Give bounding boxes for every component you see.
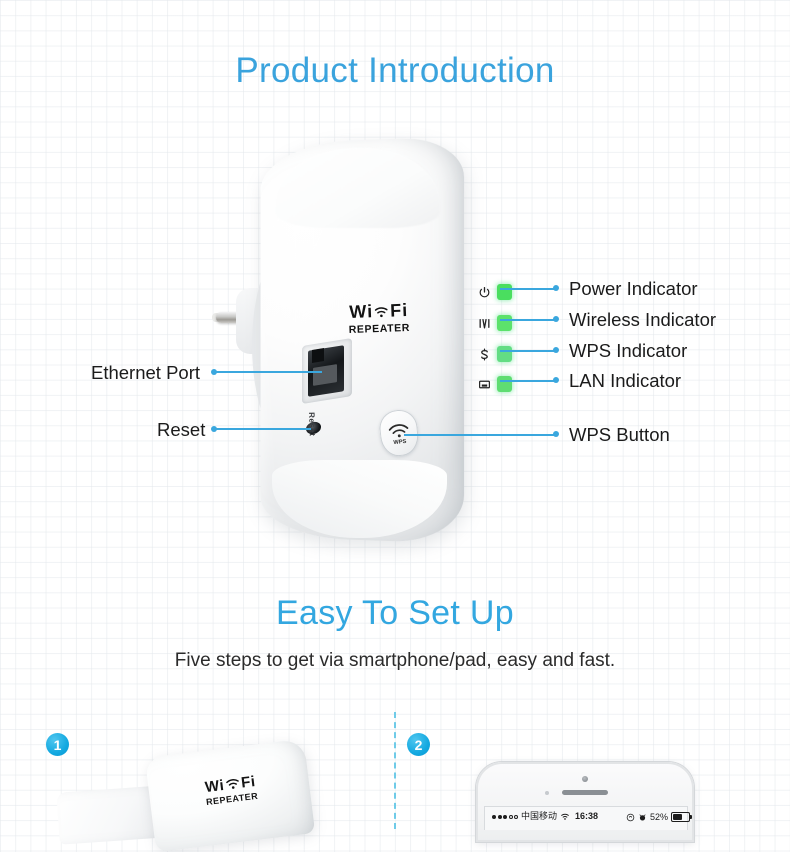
ethernet-port-tab: [312, 348, 324, 363]
wifi-icon: [560, 812, 570, 821]
led-wps: [497, 346, 512, 362]
phone-front-camera: [582, 776, 588, 782]
battery-percent-label: 52%: [650, 813, 668, 822]
leader-line-reset: [216, 428, 311, 430]
wps-icon: [478, 348, 491, 361]
callout-reset: Reset: [157, 419, 205, 441]
wps-button-icon: WPS: [385, 419, 414, 448]
phone-status-bar-left: 中国移动: [492, 812, 570, 821]
led-power: [497, 284, 512, 300]
alarm-icon: [638, 813, 647, 822]
phone-earpiece-speaker: [562, 790, 608, 795]
leader-dot-lan: [553, 377, 559, 383]
phone-status-bar-time: 16:38: [575, 812, 598, 821]
callout-lan-indicator: LAN Indicator: [569, 370, 681, 392]
indicator-row-wireless: [478, 315, 512, 331]
leader-line-wps-button: [404, 434, 556, 436]
page-title-easy-to-set-up: Easy To Set Up: [0, 594, 790, 633]
callout-ethernet-port: Ethernet Port: [91, 362, 200, 384]
led-lan: [497, 376, 512, 392]
steps-divider: [394, 712, 396, 829]
leader-dot-power: [553, 285, 559, 291]
step1-brand-wifi-right: Fi: [240, 774, 256, 791]
callout-wps-button: WPS Button: [569, 424, 670, 446]
phone-status-bar-right: 52%: [626, 812, 690, 822]
power-icon: [478, 286, 491, 299]
callout-power-indicator: Power Indicator: [569, 278, 698, 300]
wifi-signal-icon: [224, 775, 241, 792]
signal-strength-icon: [492, 815, 518, 819]
leader-line-lan: [500, 380, 555, 382]
brand-wifi-left: Wi: [349, 302, 373, 321]
leader-line-wps-indicator: [500, 350, 555, 352]
device-brand-mark: Wi Fi REPEATER: [335, 301, 422, 337]
leader-dot-wireless: [553, 316, 559, 322]
step1-brand-wifi-left: Wi: [204, 778, 225, 795]
wireless-icon: [478, 317, 491, 330]
leader-line-wireless: [500, 319, 555, 321]
leader-dot-wps-indicator: [553, 347, 559, 353]
svg-text:WPS: WPS: [393, 439, 407, 446]
indicator-row-power: [478, 284, 512, 300]
indicator-row-wps: [478, 346, 512, 362]
callout-wireless-indicator: Wireless Indicator: [569, 309, 716, 331]
lan-icon: [478, 378, 491, 391]
brand-wifi-right: Fi: [390, 301, 409, 320]
callout-wps-indicator: WPS Indicator: [569, 340, 687, 362]
battery-icon: [671, 812, 690, 822]
step-badge-1: 1: [46, 733, 69, 756]
step-badge-2: 2: [407, 733, 430, 756]
setup-subtitle: Five steps to get via smartphone/pad, ea…: [0, 650, 790, 672]
ethernet-port-contacts: [313, 364, 337, 386]
led-wireless: [497, 315, 512, 331]
indicator-row-lan: [478, 376, 512, 392]
rotation-lock-icon: [626, 813, 635, 822]
carrier-label: 中国移动: [521, 812, 557, 821]
leader-dot-wps-button: [553, 431, 559, 437]
reset-engraved-label: Reset: [307, 412, 317, 437]
page-title-product-introduction: Product Introduction: [0, 51, 790, 91]
leader-line-ethernet-port: [216, 371, 322, 373]
smartphone-mockup: [476, 762, 694, 842]
phone-proximity-sensor: [545, 791, 549, 795]
leader-line-power: [500, 288, 555, 290]
wifi-signal-icon: [374, 304, 390, 320]
